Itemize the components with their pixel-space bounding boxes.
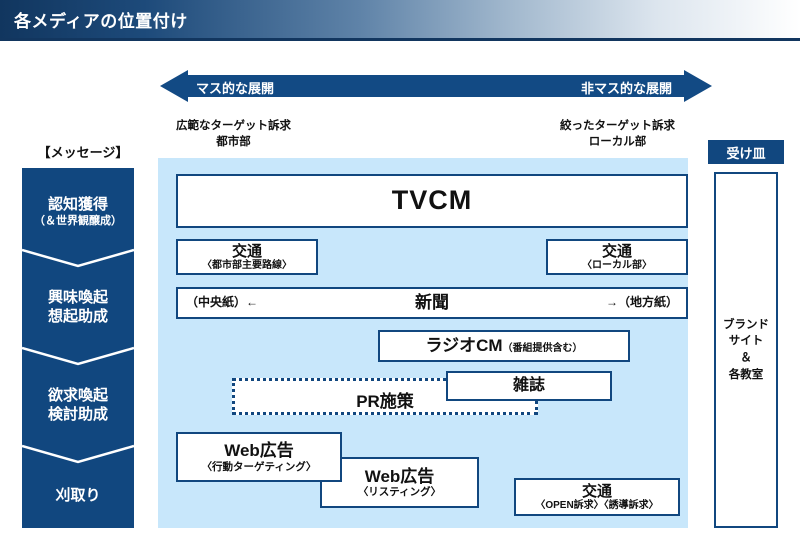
receiver-text-line1: ブランド [723,317,769,334]
funnel-stage-awareness-main: 認知獲得 [48,196,108,215]
receiver-badge: 受け皿 [708,140,784,164]
media-box-magazine[interactable]: 雑誌 [446,371,612,401]
media-box-radio-sub: （番組提供含む） [503,343,583,355]
media-box-newspaper-right-note: →（地方紙） [606,296,678,310]
media-box-tvcm[interactable]: TVCM [176,174,688,228]
receiver-box[interactable]: ブランド サイト ＆ 各教室 [714,172,778,528]
message-caption: 【メッセージ】 [28,142,138,161]
mass-to-nonmass-axis-arrow: マス的な展開 非マス的な展開 [160,70,712,102]
media-box-web-listing-label: Web広告 [365,467,435,487]
receiver-text-line4: 各教室 [723,367,769,384]
funnel-stage-conversion-main: 刈取り [55,487,100,506]
media-box-traffic-urban-label: 交通 [232,243,262,260]
media-box-web-listing-sub: 〈リスティング〉 [358,486,441,498]
media-box-traffic-local-sub: 〈ローカル部〉 [582,260,652,272]
media-box-web-behavioral[interactable]: Web広告 〈行動ターゲティング〉 [176,432,342,482]
funnel-stage-awareness-sub: （＆世界観醸成） [34,215,122,229]
axis-subtext-left: 広範なターゲット訴求 都市部 [176,119,291,150]
arrow-head-right-icon [684,70,712,102]
page-title: 各メディアの位置付け [14,7,188,32]
receiver-text-line3: ＆ [723,350,769,367]
arrow-head-left-icon [160,70,188,102]
media-box-radio-label: ラジオCM [425,336,502,356]
media-box-traffic-open-label: 交通 [582,483,612,500]
media-box-tvcm-label: TVCM [392,185,473,216]
media-box-newspaper-left-note: （中央紙）← [186,296,258,310]
media-box-pr-label: PR施策 [356,392,414,412]
media-box-traffic-urban[interactable]: 交通 〈都市部主要路線〉 [176,239,318,275]
media-box-web-behavioral-sub: 〈行動ターゲティング〉 [202,461,317,473]
title-bar: 各メディアの位置付け [0,0,800,41]
funnel-stage-interest-line1: 興味喚起 [48,289,108,308]
receiver-text-line2: サイト [723,333,769,350]
funnel-stage-interest-line2: 想起助成 [48,308,108,327]
axis-subtext-right: 絞ったターゲット訴求 ローカル部 [560,119,675,150]
media-box-traffic-local[interactable]: 交通 〈ローカル部〉 [546,239,688,275]
funnel-stage-desire: 欲求喚起 検討助成 [22,364,134,448]
media-box-traffic-open-sub: 〈OPEN訴求〉〈誘導訴求〉 [535,500,658,512]
media-box-web-listing[interactable]: Web広告 〈リスティング〉 [320,457,479,508]
funnel-stage-awareness: 認知獲得 （＆世界観醸成） [22,168,134,256]
media-box-traffic-urban-sub: 〈都市部主要路線〉 [202,260,292,272]
funnel-stage-conversion: 刈取り [22,464,134,528]
funnel-stage-interest: 興味喚起 想起助成 [22,266,134,350]
receiver-text: ブランド サイト ＆ 各教室 [723,317,769,384]
axis-subtext-right-line2: ローカル部 [560,135,675,151]
funnel-stage-desire-line2: 検討助成 [48,406,108,425]
axis-subtext-right-line1: 絞ったターゲット訴求 [560,119,675,135]
media-box-magazine-label: 雑誌 [513,377,545,395]
funnel-stage-desire-line1: 欲求喚起 [48,387,108,406]
axis-label-mass: マス的な展開 [196,78,274,97]
media-box-radio[interactable]: ラジオCM （番組提供含む） [378,330,630,362]
axis-subtext-left-line1: 広範なターゲット訴求 [176,119,291,135]
axis-subtext-left-line2: 都市部 [176,135,291,151]
media-box-newspaper[interactable]: （中央紙）← 新聞 →（地方紙） [176,287,688,319]
axis-label-nonmass: 非マス的な展開 [581,78,672,97]
media-box-traffic-local-label: 交通 [602,243,632,260]
media-box-newspaper-label: 新聞 [415,293,449,313]
message-funnel: 認知獲得 （＆世界観醸成） 興味喚起 想起助成 欲求喚起 検討助成 刈取り [22,168,134,528]
media-box-traffic-open[interactable]: 交通 〈OPEN訴求〉〈誘導訴求〉 [514,478,680,516]
media-box-web-behavioral-label: Web広告 [224,441,294,461]
